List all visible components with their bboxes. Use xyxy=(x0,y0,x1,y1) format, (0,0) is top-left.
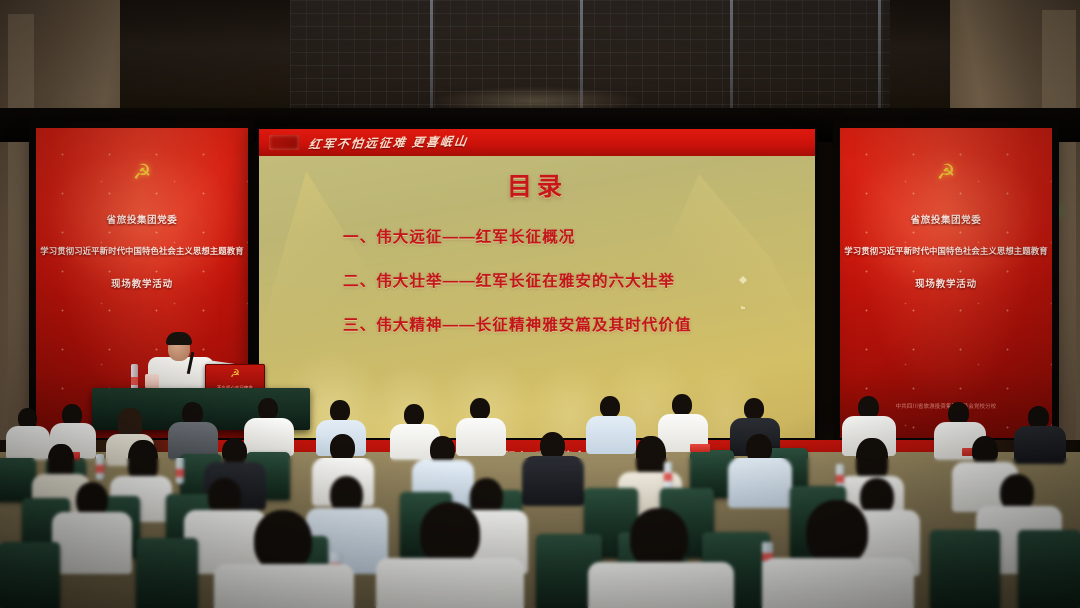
audience-head xyxy=(404,404,424,426)
chair xyxy=(136,538,198,608)
grid-mullion xyxy=(878,0,881,118)
banner-left-org: 省旅投集团党委 xyxy=(36,212,248,226)
audience-head-foreground xyxy=(806,500,868,566)
audience-head xyxy=(636,436,666,476)
name-card xyxy=(690,444,710,452)
water-bottle xyxy=(96,454,104,480)
slide-header-calligraphy: 红军不怕远征难 更喜岷山 xyxy=(308,132,470,152)
banner-right-org: 省旅投集团党委 xyxy=(840,212,1052,226)
chair xyxy=(0,542,60,608)
audience-torso xyxy=(586,416,636,454)
toc-item-1: 一、伟大远征——红军长征概况 xyxy=(343,225,795,247)
conference-hall-photo: ☭ 省旅投集团党委 学习贯彻习近平新时代中国特色社会主义思想主题教育 现场教学活… xyxy=(0,0,1080,608)
banner-left-main: 学习贯彻习近平新时代中国特色社会主义思想主题教育 xyxy=(36,245,248,257)
slide-title: 目录 xyxy=(259,167,815,203)
audience-head xyxy=(600,396,620,418)
chair xyxy=(930,530,1000,608)
hammer-sickle-icon: ☭ xyxy=(936,160,956,186)
slide-header-bar: 红军不怕远征难 更喜岷山 xyxy=(259,129,815,156)
audience-torso-foreground xyxy=(376,558,524,608)
audience-head xyxy=(330,400,350,422)
audience-head xyxy=(672,394,692,416)
presenter-hair xyxy=(166,332,192,345)
audience-torso xyxy=(52,512,132,574)
water-bottle xyxy=(176,458,184,484)
audience-torso-foreground xyxy=(588,562,734,608)
audience-torso xyxy=(522,456,584,506)
toc-item-3: 三、伟大精神——长征精神雅安篇及其时代价值 xyxy=(343,313,795,335)
hammer-sickle-icon: ☭ xyxy=(132,160,152,186)
audience-head-foreground xyxy=(420,502,480,566)
audience-head xyxy=(258,398,278,420)
banner-right-text: 省旅投集团党委 学习贯彻习近平新时代中国特色社会主义思想主题教育 现场教学活动 xyxy=(840,212,1052,290)
audience-torso xyxy=(456,418,506,456)
wall-left-pilaster xyxy=(8,14,34,434)
audience-torso xyxy=(6,426,50,460)
hammer-sickle-icon: ☭ xyxy=(230,369,240,380)
banner-left-text: 省旅投集团党委 学习贯彻习近平新时代中国特色社会主义思想主题教育 现场教学活动 xyxy=(36,212,248,290)
toc-item-2: 二、伟大壮举——红军长征在雅安的六大壮举 xyxy=(343,269,795,291)
audience-head xyxy=(48,444,74,478)
audience-head-foreground xyxy=(254,510,312,572)
audience-torso-foreground xyxy=(762,558,914,608)
audience-torso xyxy=(728,458,792,508)
audience-torso xyxy=(1014,426,1066,464)
banner-right-main: 学习贯彻习近平新时代中国特色社会主义思想主题教育 xyxy=(840,245,1052,257)
water-bottle xyxy=(664,462,672,488)
grid-mullion xyxy=(730,0,733,118)
banner-right-sub: 现场教学活动 xyxy=(840,276,1052,290)
seal-icon xyxy=(269,135,299,150)
slide-toc-list: 一、伟大远征——红军长征概况 二、伟大壮举——红军长征在雅安的六大壮举 三、伟大… xyxy=(343,225,795,357)
audience-head xyxy=(128,440,158,480)
audience-torso xyxy=(244,418,294,456)
chair xyxy=(0,458,36,502)
audience-head xyxy=(744,398,764,420)
audience-area xyxy=(0,392,1080,608)
audience-head xyxy=(470,398,490,420)
banner-left-sub: 现场教学活动 xyxy=(36,276,248,290)
audience-head-foreground xyxy=(630,508,688,570)
chair xyxy=(1018,530,1080,608)
audience-head xyxy=(856,438,888,480)
audience-torso-foreground xyxy=(214,564,354,608)
